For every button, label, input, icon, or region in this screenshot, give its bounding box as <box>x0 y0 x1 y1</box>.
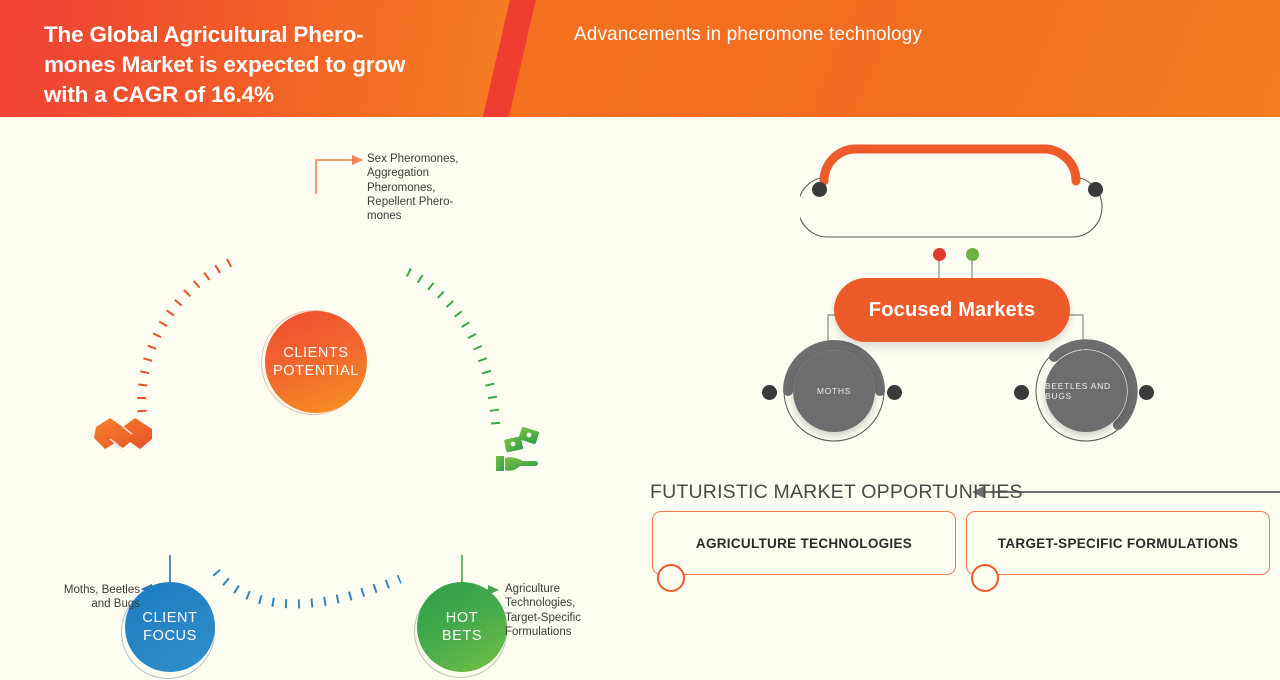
opportunity-box-target-specific-formulations[interactable]: TARGET-SPECIFIC FORMULATIONS <box>966 511 1270 575</box>
opportunity-box-agriculture-technologies-label: AGRICULTURE TECHNOLOGIES <box>696 536 912 551</box>
green-status-dot <box>966 248 979 261</box>
header-banner: The Global Agricultural Phero-mones Mark… <box>0 0 1280 117</box>
opportunity-box-agriculture-technologies-marker <box>657 564 685 592</box>
diagram-stage: CLIENTSPOTENTIAL CLIENTFOCUS HOTBETS Sex… <box>0 117 1280 680</box>
market-circle-moths[interactable]: MOTHS <box>793 350 875 432</box>
opportunities-title: FUTURISTIC MARKET OPPORTUNITIES <box>650 481 1023 504</box>
moths-right-dot <box>887 385 902 400</box>
focused-markets-button[interactable]: Focused Markets <box>834 278 1070 342</box>
beetles-right-dot <box>1139 385 1154 400</box>
header-diagonal-panel <box>494 0 1280 117</box>
focused-markets-left-dot <box>812 182 827 197</box>
arc-blue <box>216 572 400 604</box>
node-clients-potential[interactable]: CLIENTSPOTENTIAL <box>265 311 367 413</box>
moths-left-dot <box>762 385 777 400</box>
arrowhead-clients <box>352 155 363 165</box>
market-circle-moths-label: MOTHS <box>817 386 851 396</box>
market-circle-beetles-and-bugs[interactable]: BEETLES AND BUGS <box>1045 350 1127 432</box>
focused-markets-right-dot <box>1088 182 1103 197</box>
node-hot-bets[interactable]: HOTBETS <box>417 582 507 672</box>
header-subtitle: Advancements in pheromone technology <box>574 24 1194 46</box>
client-focus-callout: Moths, Beetlesand Bugs <box>30 583 140 612</box>
focused-markets-frame <box>800 139 1110 259</box>
arc-orange <box>142 260 235 412</box>
market-circle-beetles-and-bugs-label: BEETLES AND BUGS <box>1045 381 1127 401</box>
page-title: The Global Agricultural Phero-mones Mark… <box>44 20 514 110</box>
opportunity-box-target-specific-formulations-label: TARGET-SPECIFIC FORMULATIONS <box>998 536 1238 551</box>
connector-clients <box>316 160 352 194</box>
focused-markets-group: Focused Markets <box>806 264 1098 360</box>
infographic-canvas: The Global Agricultural Phero-mones Mark… <box>0 0 1280 680</box>
beetles-left-dot <box>1014 385 1029 400</box>
opportunity-box-target-specific-formulations-marker <box>971 564 999 592</box>
red-status-dot <box>933 248 946 261</box>
node-clients-potential-label: CLIENTSPOTENTIAL <box>273 344 359 380</box>
clients-potential-callout: Sex Pheromones,AggregationPheromones,Rep… <box>367 152 477 223</box>
node-client-focus-label: CLIENTFOCUS <box>142 609 197 645</box>
node-hot-bets-label: HOTBETS <box>442 609 482 645</box>
opportunity-box-agriculture-technologies[interactable]: AGRICULTURE TECHNOLOGIES <box>652 511 956 575</box>
arc-green <box>408 272 496 429</box>
hot-bets-callout: AgricultureTechnologies,Target-SpecificF… <box>505 582 625 639</box>
